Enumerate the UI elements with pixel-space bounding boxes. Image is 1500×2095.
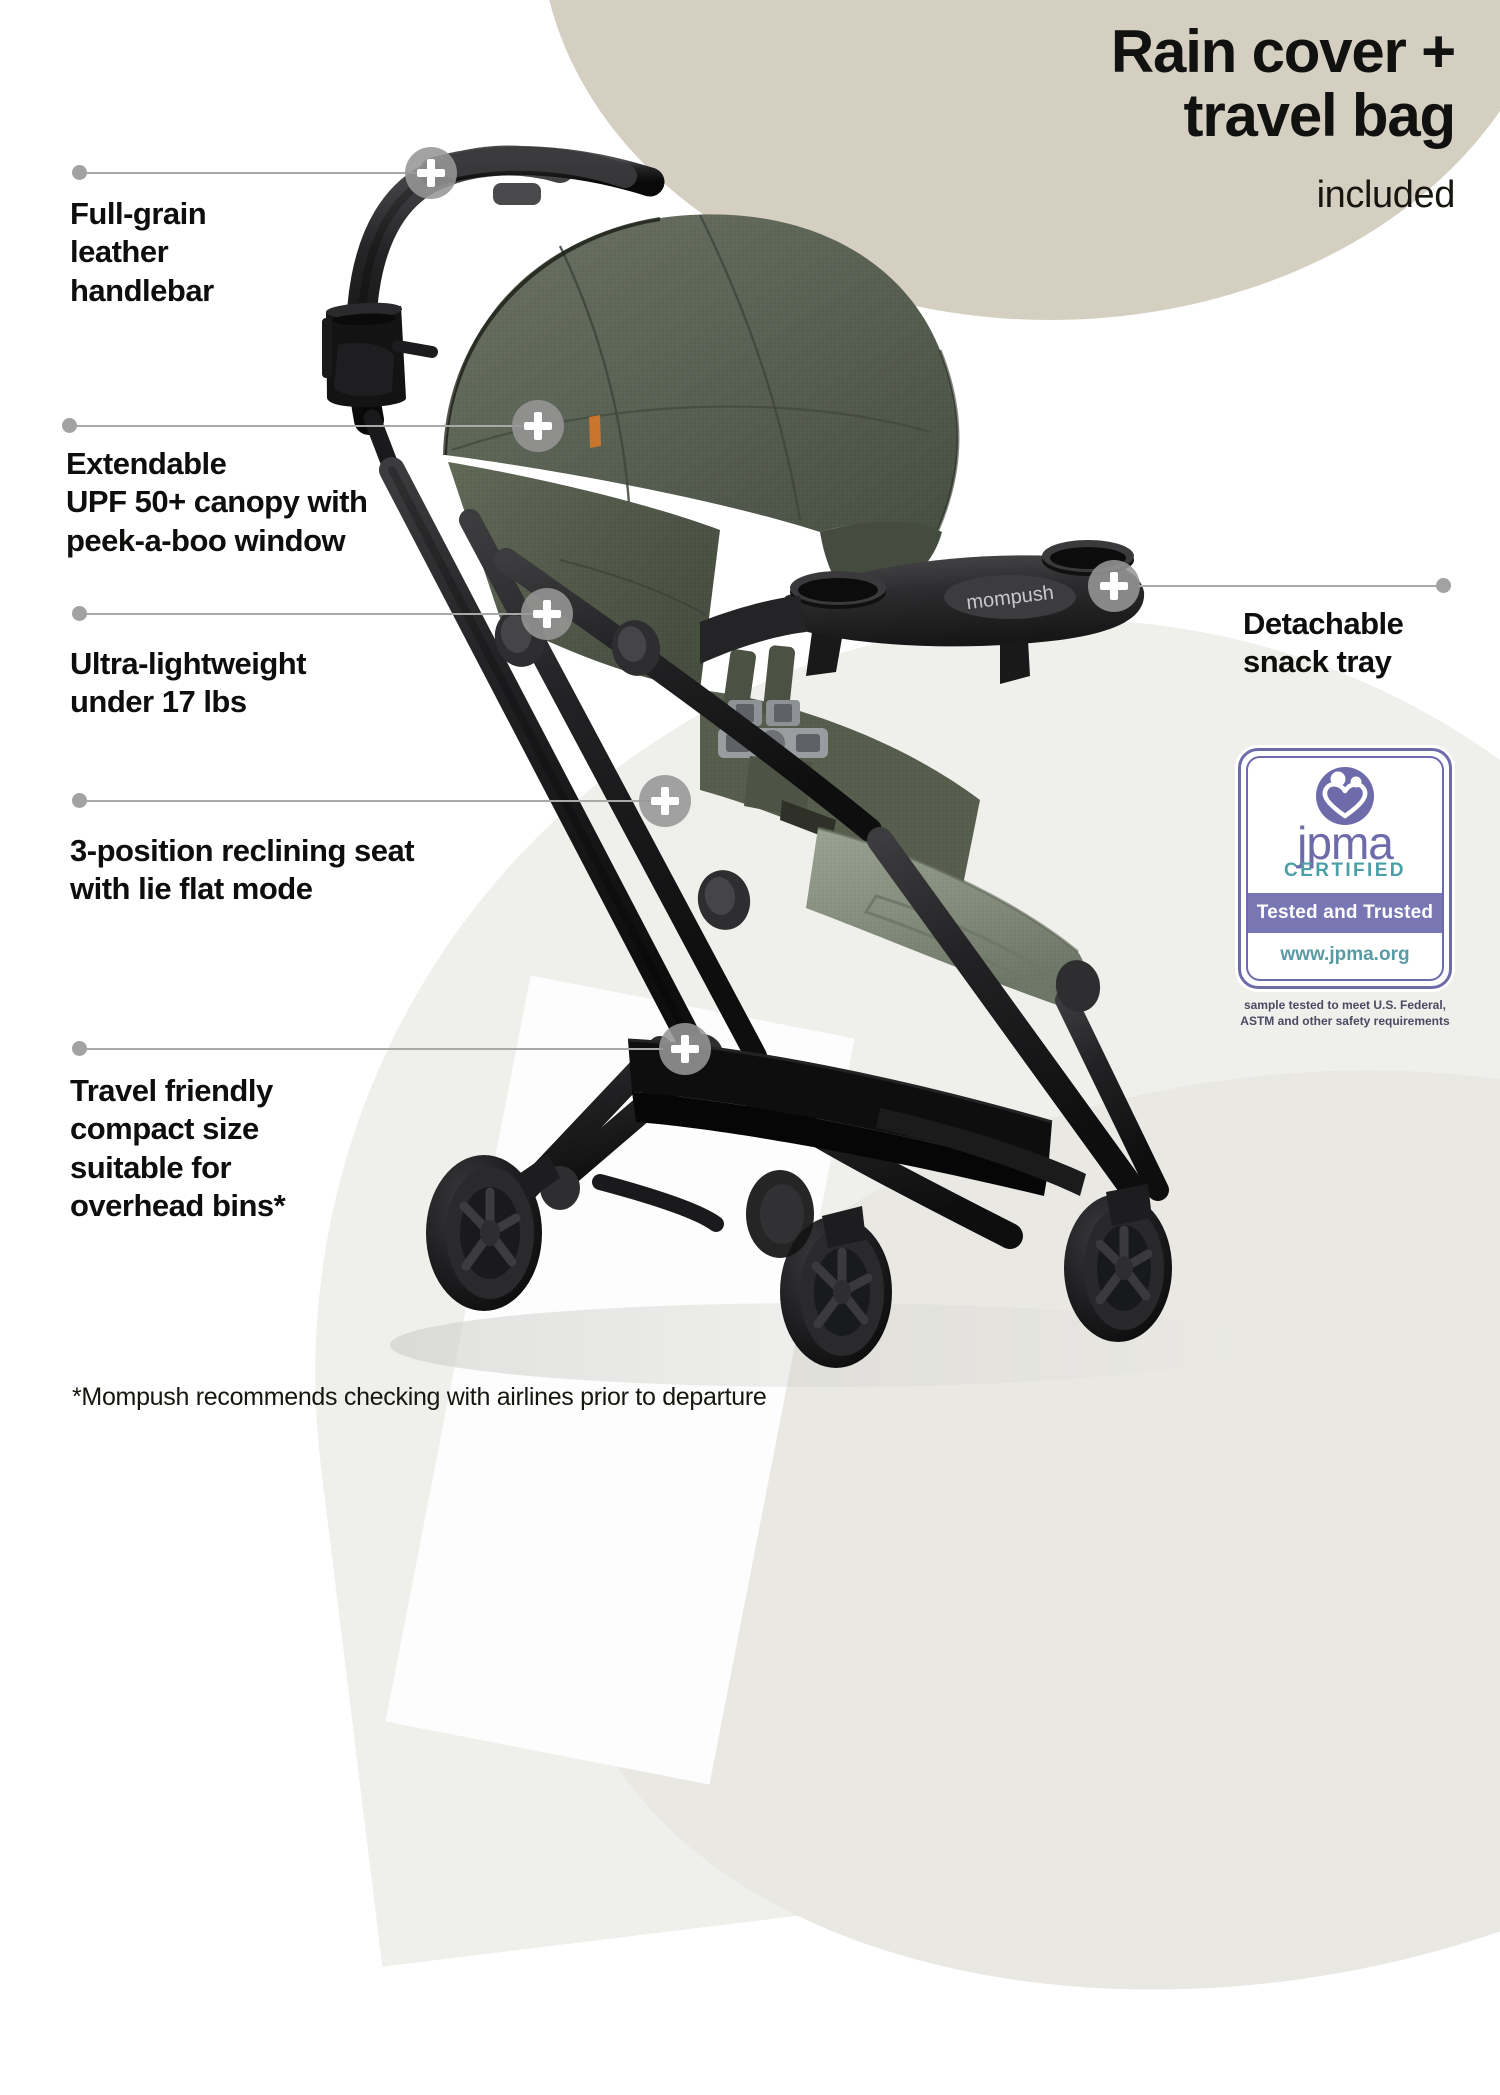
callout-label: 3-position reclining seat with lie flat … (70, 832, 414, 909)
jpma-certified-text: CERTIFIED (1248, 860, 1442, 889)
callout-ultra-lightweight: Ultra-lightweight under 17 lbs (70, 645, 306, 722)
leader-line-handlebar (80, 172, 425, 174)
headline-subtitle: included (1111, 174, 1455, 217)
leader-dot-handlebar (72, 165, 87, 180)
plus-marker-handlebar[interactable] (405, 147, 457, 199)
leader-dot-lightweight (72, 606, 87, 621)
leader-line-canopy (70, 425, 530, 427)
plus-marker-lightweight[interactable] (521, 588, 573, 640)
leader-line-snack-tray (1138, 585, 1443, 587)
jpma-tested-trusted-band: Tested and Trusted (1248, 893, 1442, 933)
callout-label: Full-grain leather handlebar (70, 195, 214, 310)
leader-line-travel (80, 1048, 663, 1050)
callout-detachable-snack-tray: Detachable snack tray (1243, 605, 1403, 682)
callout-label: Detachable snack tray (1243, 605, 1403, 682)
callout-label: Travel friendly compact size suitable fo… (70, 1072, 285, 1226)
jpma-card: jpma CERTIFIED Tested and Trusted www.jp… (1238, 748, 1452, 989)
jpma-inner-border: jpma CERTIFIED Tested and Trusted www.jp… (1246, 756, 1444, 981)
jpma-url[interactable]: www.jpma.org (1248, 933, 1442, 979)
leader-line-lightweight (80, 613, 535, 615)
headline-block: Rain cover + travel bag included (1111, 20, 1455, 217)
headline-line-2: travel bag (1111, 84, 1455, 148)
callout-label: Extendable UPF 50+ canopy with peek-a-bo… (66, 445, 367, 560)
leader-line-recline (80, 800, 653, 802)
footnote-text: *Mompush recommends checking with airlin… (72, 1383, 767, 1412)
leader-dot-travel (72, 1041, 87, 1056)
callout-extendable-upf-canopy: Extendable UPF 50+ canopy with peek-a-bo… (66, 445, 367, 560)
infographic-canvas: mompush (0, 0, 1500, 1500)
leader-dot-snack-tray (1436, 578, 1451, 593)
leader-dot-recline (72, 793, 87, 808)
plus-marker-recline[interactable] (639, 775, 691, 827)
callout-travel-friendly-compact: Travel friendly compact size suitable fo… (70, 1072, 285, 1226)
jpma-wordmark: jpma (1248, 822, 1442, 864)
jpma-disclaimer-note: sample tested to meet U.S. Federal, ASTM… (1238, 998, 1452, 1030)
callout-reclining-seat: 3-position reclining seat with lie flat … (70, 832, 414, 909)
callout-label: Ultra-lightweight under 17 lbs (70, 645, 306, 722)
plus-marker-snack-tray[interactable] (1088, 560, 1140, 612)
leader-dot-canopy (62, 418, 77, 433)
headline-line-1: Rain cover + (1111, 20, 1455, 84)
plus-marker-canopy[interactable] (512, 400, 564, 452)
jpma-top-section: jpma CERTIFIED (1248, 758, 1442, 893)
plus-marker-travel[interactable] (659, 1023, 711, 1075)
jpma-certification-badge: jpma CERTIFIED Tested and Trusted www.jp… (1238, 748, 1452, 1030)
callout-full-grain-leather-handlebar: Full-grain leather handlebar (70, 195, 214, 310)
